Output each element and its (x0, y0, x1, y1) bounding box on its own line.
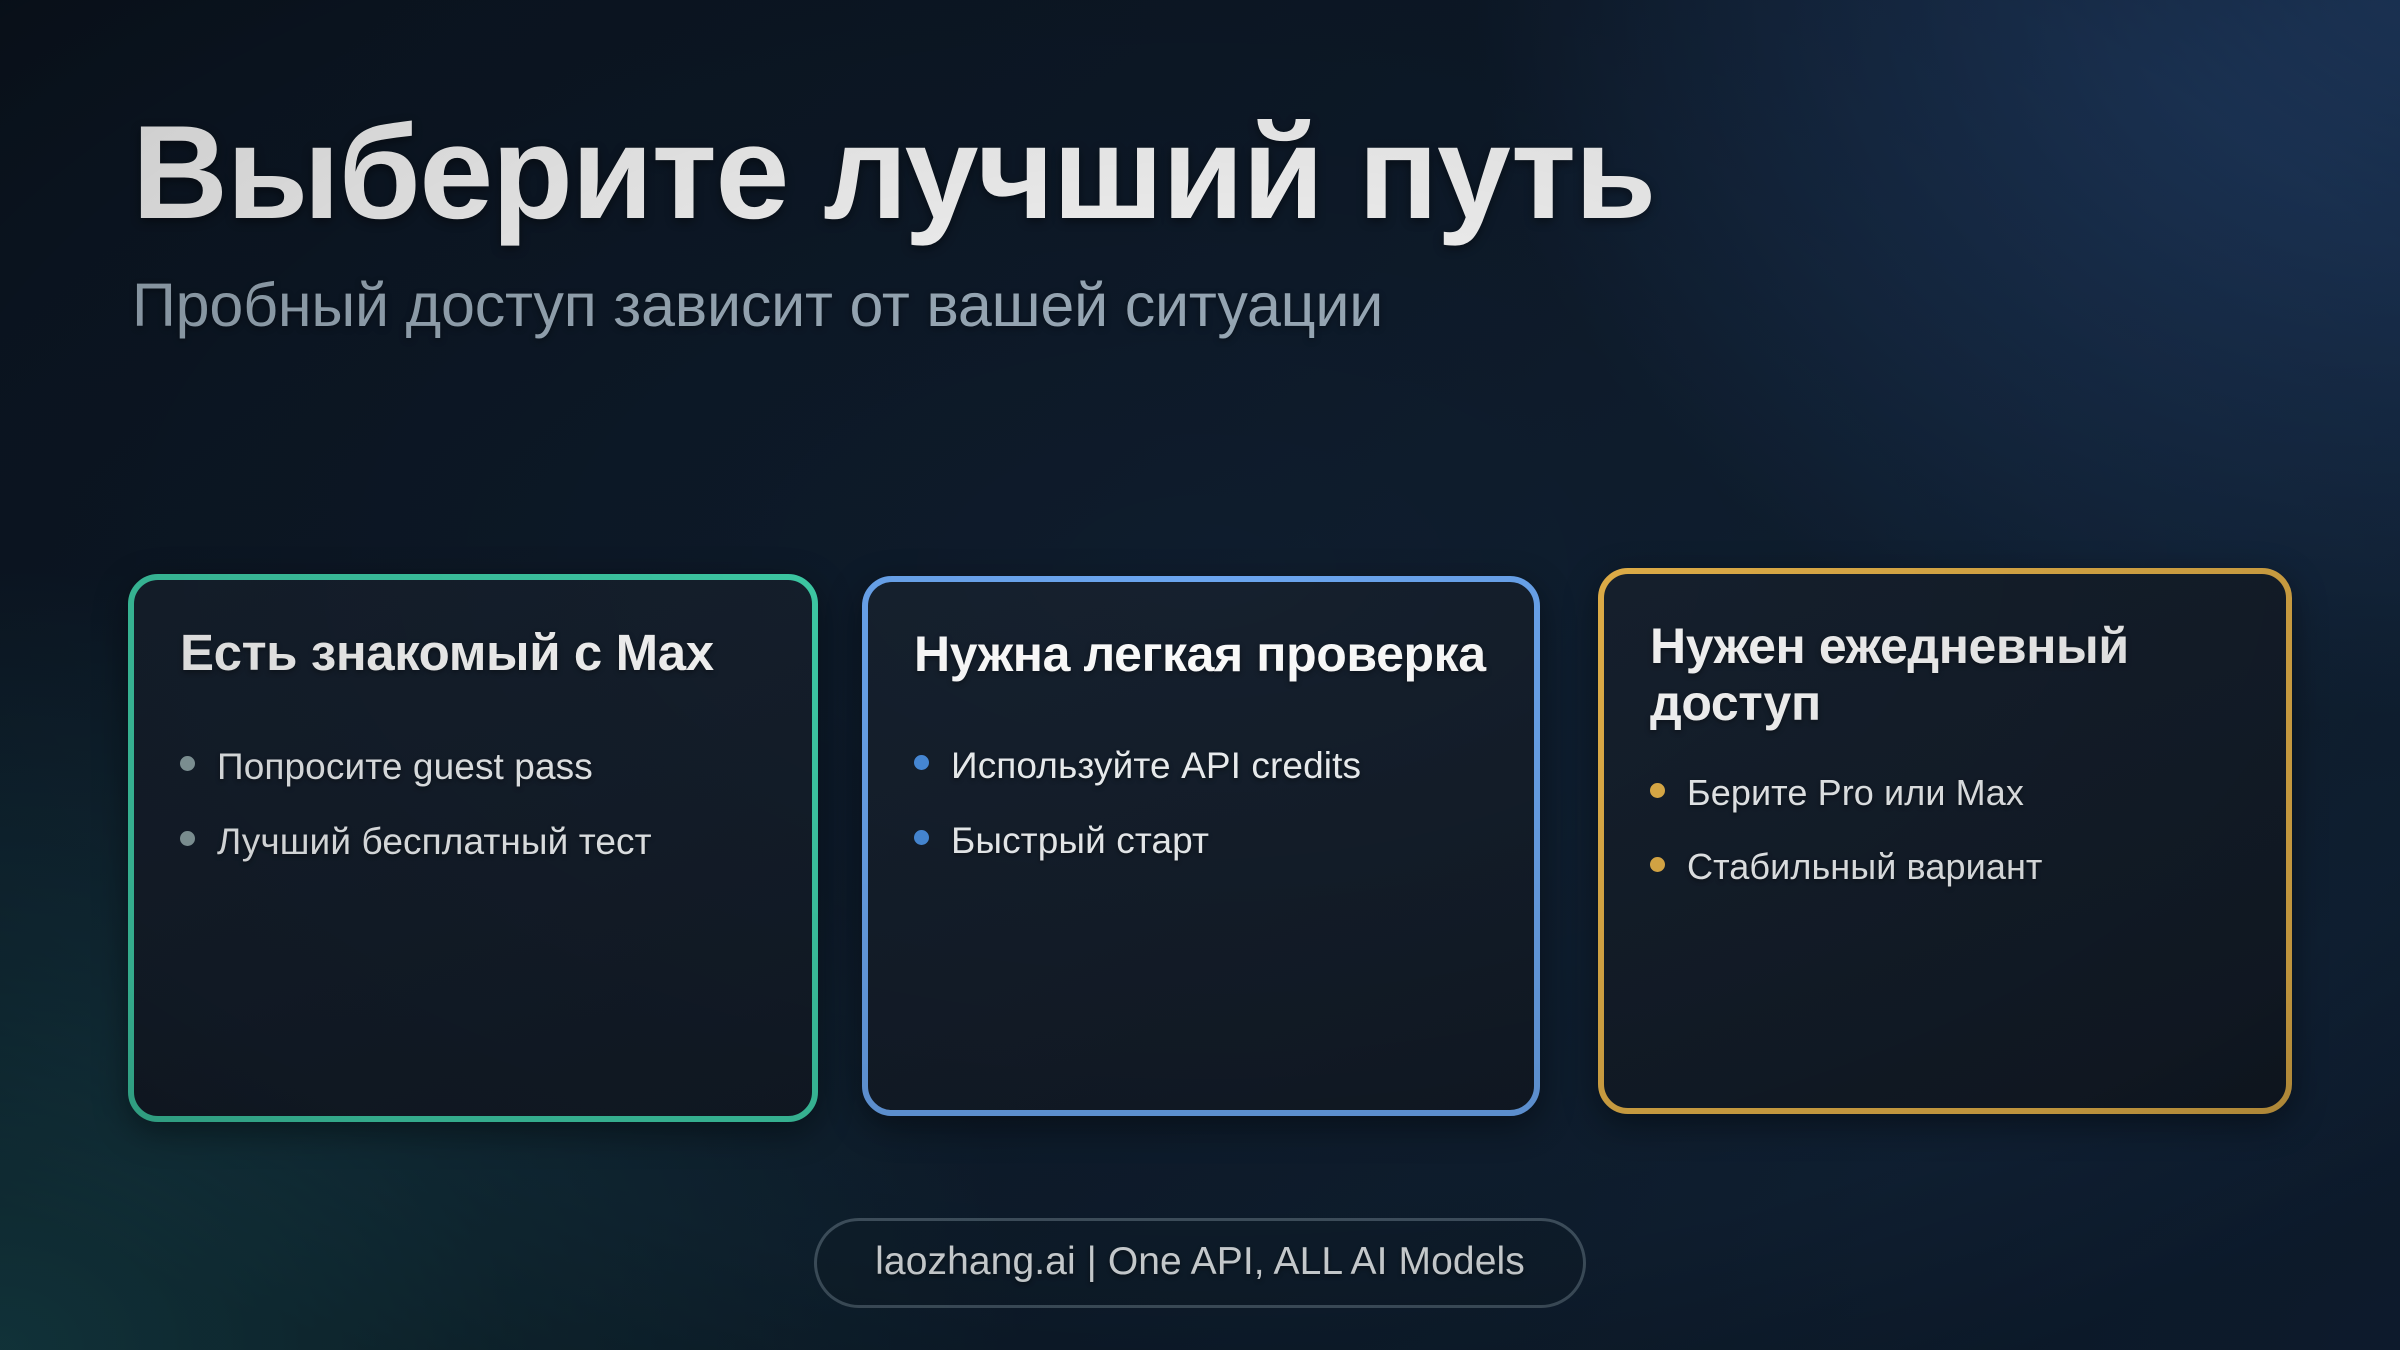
list-item: Берите Pro или Max (1650, 769, 2242, 817)
list-item-label: Быстрый старт (951, 816, 1209, 865)
card-title: Нужна легкая проверка (914, 626, 1490, 683)
page-title: Выберите лучший путь (132, 104, 2292, 242)
slide-canvas: Выберите лучший путь Пробный доступ зави… (0, 0, 2400, 1350)
bullet-dot-icon (1650, 857, 1665, 872)
bullet-dot-icon (180, 756, 195, 771)
list-item-label: Стабильный вариант (1687, 843, 2043, 891)
list-item-label: Лучший бесплатный тест (217, 817, 652, 866)
brand-badge[interactable]: laozhang.ai | One API, ALL AI Models (814, 1218, 1586, 1308)
card-title: Есть знакомый с Max (180, 624, 768, 682)
bullet-dot-icon (180, 831, 195, 846)
list-item: Используйте API credits (914, 741, 1490, 790)
card-light-check[interactable]: Нужна легкая проверка Используйте API cr… (862, 576, 1540, 1116)
card-group: Есть знакомый с Max Попросите guest pass… (128, 566, 2292, 1122)
bullet-dot-icon (1650, 783, 1665, 798)
card-daily-access[interactable]: Нужен ежедневный доступ Берите Pro или M… (1598, 568, 2292, 1114)
footer: laozhang.ai | One API, ALL AI Models (0, 1218, 2400, 1308)
list-item: Быстрый старт (914, 816, 1490, 865)
list-item: Стабильный вариант (1650, 843, 2242, 891)
header: Выберите лучший путь Пробный доступ зави… (132, 104, 2292, 339)
bullet-dot-icon (914, 755, 929, 770)
card-title: Нужен ежедневный доступ (1650, 618, 2242, 731)
list-item-label: Используйте API credits (951, 741, 1361, 790)
card-guest-pass[interactable]: Есть знакомый с Max Попросите guest pass… (128, 574, 818, 1122)
card-bullet-list: Берите Pro или Max Стабильный вариант (1650, 769, 2242, 891)
list-item-label: Берите Pro или Max (1687, 769, 2024, 817)
list-item: Попросите guest pass (180, 742, 768, 791)
card-bullet-list: Попросите guest pass Лучший бесплатный т… (180, 742, 768, 866)
bullet-dot-icon (914, 830, 929, 845)
list-item: Лучший бесплатный тест (180, 817, 768, 866)
list-item-label: Попросите guest pass (217, 742, 593, 791)
page-subtitle: Пробный доступ зависит от вашей ситуации (132, 272, 2292, 339)
card-bullet-list: Используйте API credits Быстрый старт (914, 741, 1490, 865)
